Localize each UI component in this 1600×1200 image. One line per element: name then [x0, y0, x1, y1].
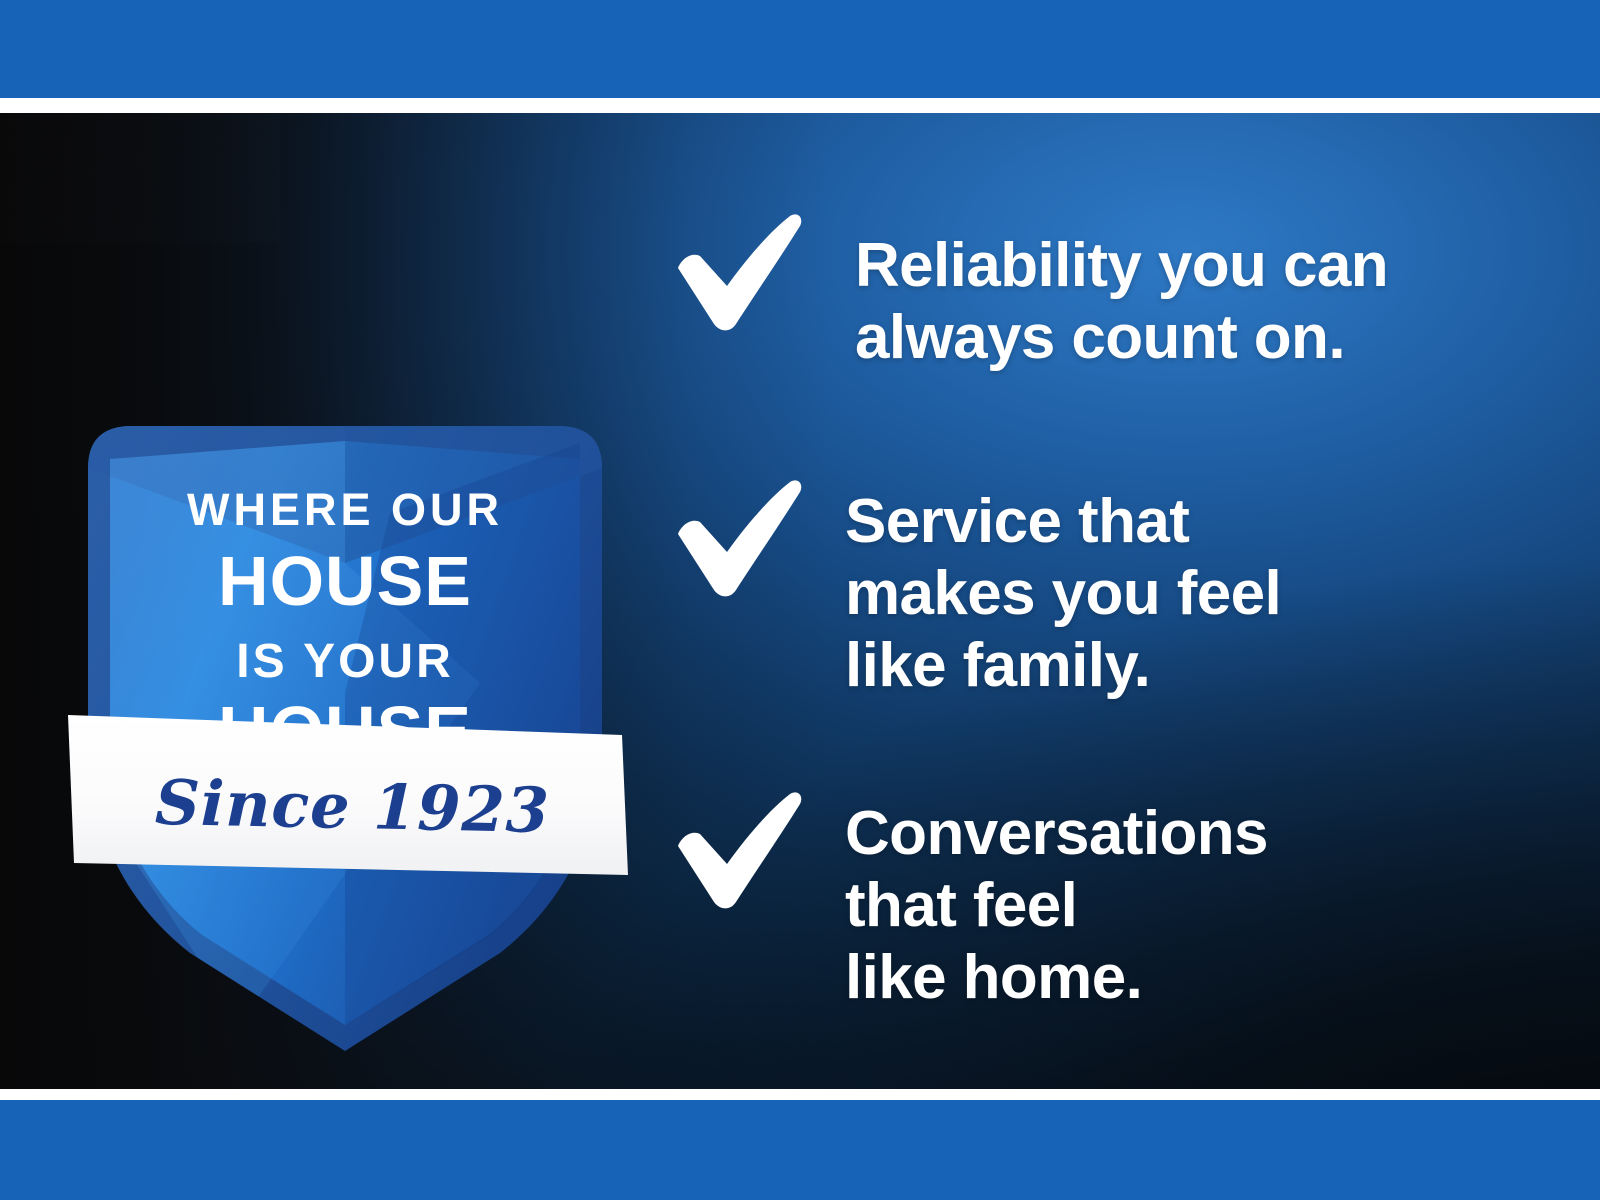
poster-stage: WHERE OUR HOUSE IS YOUR HOUSE Since 1923… — [0, 113, 1600, 1089]
benefit-text-2: Service that makes you feel like family. — [845, 486, 1281, 702]
check-mark-icon — [672, 212, 804, 332]
top-divider-rule — [0, 98, 1600, 113]
badge-ribbon-text: Since 1923 — [154, 766, 550, 847]
benefit-item-2: Service that makes you feel like family. — [672, 474, 1281, 702]
benefit-text-3: Conversations that feel like home. — [845, 798, 1268, 1014]
background-noise-texture — [0, 113, 280, 243]
badge-line-3: IS YOUR — [236, 635, 454, 688]
badge-line-2: HOUSE — [218, 542, 472, 620]
badge-line-1: WHERE OUR — [187, 484, 503, 535]
benefit-text-1: Reliability you can always count on. — [855, 230, 1388, 374]
benefit-item-3: Conversations that feel like home. — [672, 786, 1268, 1014]
promo-poster: WHERE OUR HOUSE IS YOUR HOUSE Since 1923… — [0, 0, 1600, 1200]
brand-bar-top — [0, 0, 1600, 98]
benefit-item-1: Reliability you can always count on. — [672, 208, 1388, 374]
check-mark-icon — [672, 478, 804, 598]
shield-badge: WHERE OUR HOUSE IS YOUR HOUSE Since 1923 — [60, 263, 630, 1063]
check-mark-icon — [672, 790, 804, 910]
bottom-divider-rule — [0, 1089, 1600, 1100]
brand-bar-bottom — [0, 1100, 1600, 1200]
